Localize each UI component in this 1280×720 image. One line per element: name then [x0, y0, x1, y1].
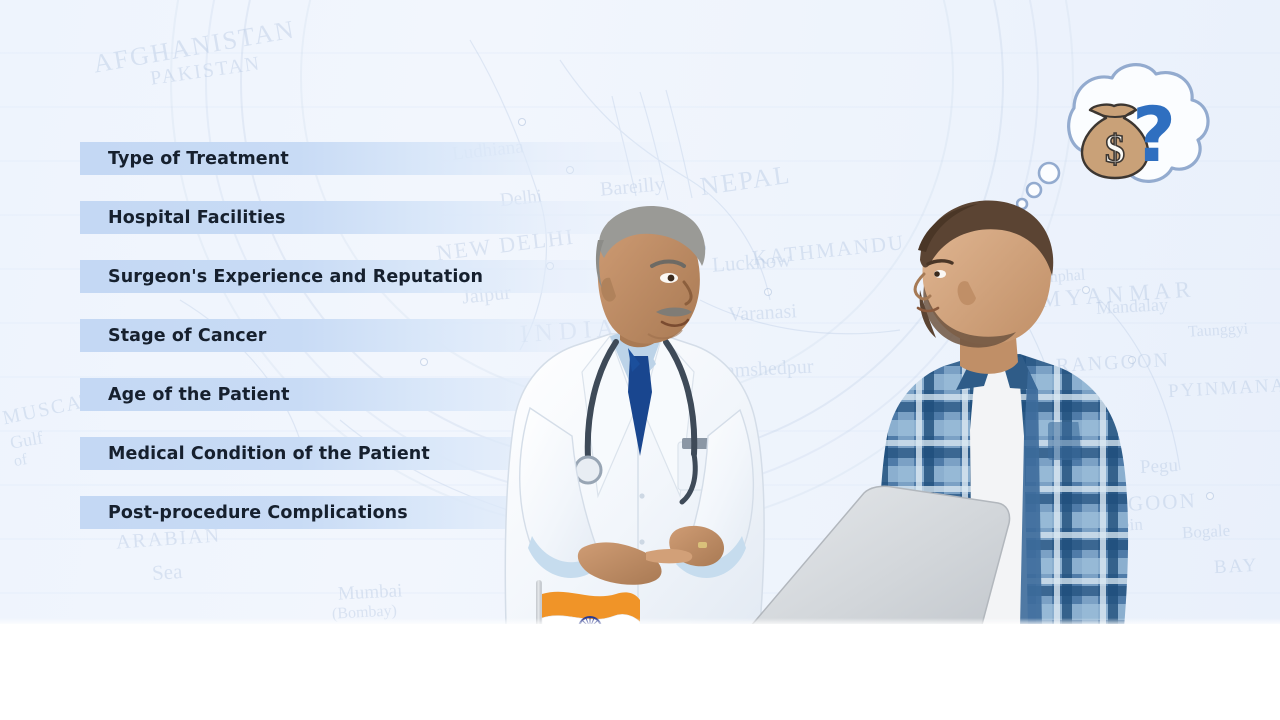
question-mark-icon: ?	[1132, 90, 1176, 179]
money-bag-dollar-symbol: $	[1105, 126, 1125, 171]
factor-bar-label: Post-procedure Complications	[80, 503, 408, 523]
infographic-canvas: AFGHANISTANPAKISTANLudhianaDelhiBareilly…	[0, 0, 1280, 720]
factor-bar-label: Type of Treatment	[80, 149, 289, 169]
factor-bar-label: Stage of Cancer	[80, 326, 266, 346]
factor-bar-label: Age of the Patient	[80, 385, 290, 405]
factor-bar[interactable]: Type of Treatment	[80, 142, 860, 175]
bottom-white-strip	[0, 624, 1280, 720]
factor-bar-label: Hospital Facilities	[80, 208, 286, 228]
factor-bar-label: Surgeon's Experience and Reputation	[80, 267, 483, 287]
factor-bar-label: Medical Condition of the Patient	[80, 444, 430, 464]
doctor-head	[596, 206, 705, 344]
patient-head	[915, 200, 1053, 347]
stethoscope-chestpiece	[575, 457, 601, 483]
